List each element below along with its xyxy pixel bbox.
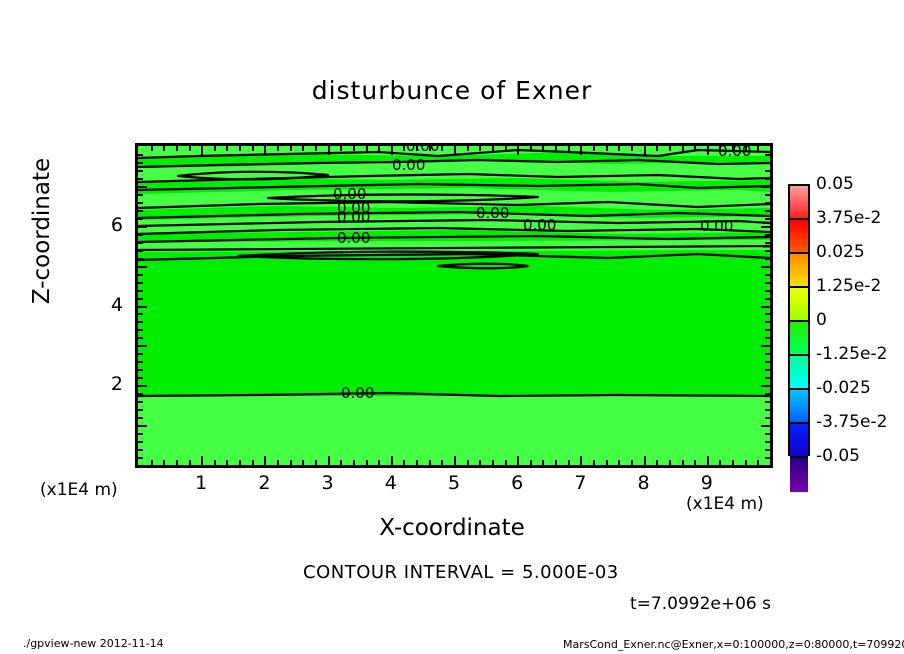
y-minor-tick [138,170,143,172]
x-major-tick [707,456,709,465]
x-tick-label-4: 4 [371,472,411,494]
x-major-tick [454,456,456,465]
contour-value-label: 0.00 [523,216,556,234]
y-major-tick [761,226,770,228]
x-minor-tick [656,146,658,151]
x-tick-label-2: 2 [244,472,284,494]
x-minor-tick [682,460,684,465]
x-minor-tick [302,460,304,465]
x-minor-tick [568,460,570,465]
y-minor-tick [138,282,143,284]
x-minor-tick [555,146,557,151]
y-major-tick [761,425,770,427]
x-minor-tick [239,460,241,465]
x-minor-tick [302,146,304,151]
y-minor-tick [765,250,770,252]
x-minor-tick [745,146,747,151]
y-minor-tick [138,234,143,236]
x-major-tick [517,456,519,465]
colorbar-label-0: 0.05 [816,174,854,194]
colorbar-label-1: 3.75e-2 [816,208,881,228]
x-minor-tick [719,146,721,151]
x-minor-tick [757,146,759,151]
y-tick-label-4: 4 [95,294,123,316]
x-minor-tick [353,146,355,151]
y-major-tick [761,186,770,188]
x-minor-tick [277,146,279,151]
x-minor-tick [492,146,494,151]
y-minor-tick [138,441,143,443]
x-minor-tick [429,146,431,151]
x-minor-tick [479,460,481,465]
colorbar [788,184,810,456]
y-minor-tick [765,361,770,363]
x-minor-tick [593,146,595,151]
y-minor-tick [138,337,143,339]
x-minor-tick [340,146,342,151]
x-minor-tick [631,460,633,465]
x-minor-tick [378,460,380,465]
x-minor-tick [757,460,759,465]
x-minor-tick [530,460,532,465]
x-minor-tick [176,460,178,465]
y-minor-tick [765,377,770,379]
y-major-tick [138,226,147,228]
x-major-tick [201,456,203,465]
x-minor-tick [618,460,620,465]
x-minor-tick [416,460,418,465]
x-minor-tick [315,146,317,151]
x-minor-tick [530,146,532,151]
y-minor-tick [765,298,770,300]
x-minor-tick [378,146,380,151]
x-minor-tick [467,460,469,465]
x-minor-tick [429,460,431,465]
y-minor-tick [138,258,143,260]
contour-plot-area: 0.000.000.000.000.000.000.000.000.000.00… [135,143,773,468]
y-minor-tick [765,290,770,292]
y-minor-tick [765,178,770,180]
x-minor-tick [745,460,747,465]
y-major-tick [761,306,770,308]
x-minor-tick [606,146,608,151]
colorbar-label-5: -1.25e-2 [816,344,887,364]
x-unit-label-right: (x1E4 m) [686,494,764,514]
contour-value-label: 0.00 [392,156,425,174]
x-minor-tick [403,460,405,465]
x-minor-tick [189,460,191,465]
x-minor-tick [366,460,368,465]
y-minor-tick [138,154,143,156]
colorbar-label-2: 0.025 [816,242,865,262]
x-minor-tick [542,460,544,465]
y-minor-tick [765,313,770,315]
x-major-tick [580,146,582,155]
y-minor-tick [765,329,770,331]
x-minor-tick [189,146,191,151]
colorbar-label-7: -3.75e-2 [816,412,887,432]
y-minor-tick [765,441,770,443]
x-major-tick [328,456,330,465]
y-minor-tick [138,274,143,276]
x-minor-tick [163,460,165,465]
y-minor-tick [765,401,770,403]
y-minor-tick [138,361,143,363]
x-minor-tick [441,146,443,151]
x-unit-label-left: (x1E4 m) [40,480,118,500]
page-title: disturbunce of Exner [0,76,904,105]
y-minor-tick [765,449,770,451]
footer-command-label: ./gpview-new 2012-11-14 [23,637,164,650]
y-axis-title: Z-coordinate [29,131,55,331]
y-minor-tick [765,433,770,435]
y-major-tick [761,385,770,387]
x-minor-tick [694,460,696,465]
x-minor-tick [151,460,153,465]
x-tick-label-7: 7 [560,472,600,494]
x-tick-label-1: 1 [181,472,221,494]
colorbar-label-4: 0 [816,310,827,330]
colorbar-band-5 [790,356,808,390]
x-major-tick [644,146,646,155]
y-minor-tick [138,218,143,220]
y-major-tick [138,385,147,387]
y-minor-tick [765,234,770,236]
x-major-tick [201,146,203,155]
x-minor-tick [315,460,317,465]
y-minor-tick [765,258,770,260]
colorbar-band-6 [790,390,808,424]
y-minor-tick [138,298,143,300]
x-major-tick [264,146,266,155]
x-minor-tick [239,146,241,151]
y-major-tick [761,266,770,268]
x-minor-tick [214,460,216,465]
x-major-tick [707,146,709,155]
colorbar-band-8 [790,458,808,492]
contour-value-label: 0.00 [406,143,439,155]
x-minor-tick [441,460,443,465]
y-minor-tick [765,274,770,276]
y-minor-tick [138,242,143,244]
x-minor-tick [505,460,507,465]
x-tick-label-3: 3 [308,472,348,494]
y-major-tick [138,425,147,427]
x-minor-tick [290,146,292,151]
y-minor-tick [138,433,143,435]
x-minor-tick [226,146,228,151]
colorbar-band-3 [790,288,808,322]
colorbar-band-0 [790,186,808,220]
y-minor-tick [765,210,770,212]
y-minor-tick [138,162,143,164]
x-minor-tick [656,460,658,465]
y-minor-tick [138,369,143,371]
x-axis-title: X-coordinate [0,515,904,541]
x-major-tick [391,146,393,155]
x-tick-label-6: 6 [497,472,537,494]
y-major-tick [138,306,147,308]
x-major-tick [644,456,646,465]
x-minor-tick [252,146,254,151]
x-tick-label-5: 5 [434,472,474,494]
x-minor-tick [479,146,481,151]
x-minor-tick [555,460,557,465]
contour-interval-label: CONTOUR INTERVAL = 5.000E-03 [303,562,619,583]
colorbar-label-6: -0.025 [816,378,871,398]
x-major-tick [580,456,582,465]
y-minor-tick [138,178,143,180]
x-tick-label-8: 8 [624,472,664,494]
colorbar-band-4 [790,322,808,356]
x-minor-tick [252,460,254,465]
y-minor-tick [765,170,770,172]
contour-value-label: 0.00 [700,217,733,235]
x-minor-tick [669,146,671,151]
y-minor-tick [138,290,143,292]
x-minor-tick [214,146,216,151]
x-minor-tick [467,146,469,151]
x-minor-tick [492,460,494,465]
x-minor-tick [568,146,570,151]
footer-source-label: MarsCond_Exner.nc@Exner,x=0:100000,z=0:8… [563,638,904,651]
y-minor-tick [765,242,770,244]
contour-value-label: 0.00 [341,384,374,402]
y-minor-tick [138,250,143,252]
x-major-tick [264,456,266,465]
x-major-tick [454,146,456,155]
y-minor-tick [138,409,143,411]
y-minor-tick [765,353,770,355]
x-major-tick [517,146,519,155]
x-minor-tick [732,146,734,151]
y-tick-label-2: 2 [95,373,123,395]
y-minor-tick [765,202,770,204]
x-minor-tick [403,146,405,151]
y-minor-tick [138,417,143,419]
y-minor-tick [765,154,770,156]
x-minor-tick [631,146,633,151]
y-minor-tick [765,393,770,395]
x-minor-tick [176,146,178,151]
time-label: t=7.0992e+06 s [630,594,771,614]
y-minor-tick [765,282,770,284]
colorbar-label-3: 1.25e-2 [816,276,881,296]
y-minor-tick [138,313,143,315]
y-minor-tick [138,457,143,459]
colorbar-band-2 [790,254,808,288]
x-minor-tick [682,146,684,151]
x-minor-tick [618,146,620,151]
x-minor-tick [593,460,595,465]
y-minor-tick [765,218,770,220]
y-major-tick [761,345,770,347]
x-minor-tick [353,460,355,465]
x-minor-tick [366,146,368,151]
x-minor-tick [669,460,671,465]
y-minor-tick [138,393,143,395]
x-minor-tick [732,460,734,465]
x-tick-label-9: 9 [687,472,727,494]
contour-value-label: 0.00 [476,204,509,222]
colorbar-band-1 [790,220,808,254]
y-minor-tick [138,329,143,331]
y-minor-tick [765,409,770,411]
y-minor-tick [765,337,770,339]
y-minor-tick [138,210,143,212]
y-major-tick [138,186,147,188]
contour-value-label: 0.00 [337,229,370,247]
y-minor-tick [138,449,143,451]
contour-value-label: 0.00 [337,208,370,226]
x-minor-tick [694,146,696,151]
y-minor-tick [765,162,770,164]
y-tick-label-6: 6 [95,214,123,236]
x-minor-tick [151,146,153,151]
x-minor-tick [505,146,507,151]
x-minor-tick [163,146,165,151]
y-major-tick [138,266,147,268]
y-minor-tick [765,321,770,323]
y-major-tick [138,345,147,347]
x-major-tick [328,146,330,155]
x-major-tick [391,456,393,465]
x-minor-tick [277,460,279,465]
x-minor-tick [340,460,342,465]
y-minor-tick [138,202,143,204]
x-minor-tick [606,460,608,465]
y-minor-tick [765,417,770,419]
y-minor-tick [138,353,143,355]
x-minor-tick [416,146,418,151]
y-minor-tick [765,369,770,371]
x-minor-tick [226,460,228,465]
contour-lines [138,146,770,465]
y-minor-tick [138,194,143,196]
colorbar-band-7 [790,424,808,458]
y-minor-tick [138,377,143,379]
y-minor-tick [138,401,143,403]
x-minor-tick [542,146,544,151]
y-minor-tick [765,457,770,459]
x-minor-tick [290,460,292,465]
colorbar-label-8: -0.05 [816,446,860,466]
y-minor-tick [138,321,143,323]
y-minor-tick [765,194,770,196]
x-minor-tick [719,460,721,465]
